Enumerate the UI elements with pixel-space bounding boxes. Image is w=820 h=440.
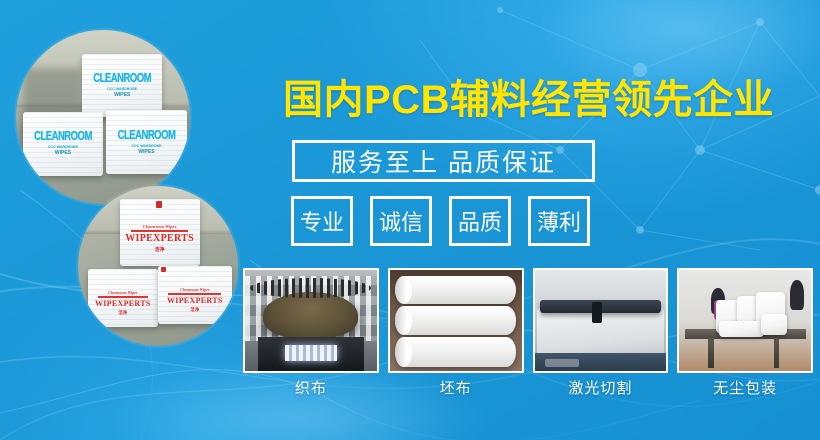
- pack-sub-label-1: CCC WARDROBE: [131, 144, 161, 148]
- bench-leg: [708, 338, 713, 368]
- keyword-label: 诚信: [379, 205, 423, 237]
- pack-logo-label: 洁净: [190, 307, 199, 313]
- slogan-text: 服务至上 品质保证: [331, 143, 556, 179]
- worker-figure: [790, 280, 804, 310]
- keyword-label: 品质: [458, 205, 502, 237]
- bench-leg: [774, 338, 779, 368]
- keyword-label: 薄利: [537, 205, 581, 237]
- pack-red-seal: [156, 201, 162, 207]
- pack-texture: [88, 269, 158, 327]
- pack-brand-label: CLEANROOM: [118, 128, 176, 143]
- fabric-roll: [395, 276, 516, 304]
- process-photo-greige-fabric: [388, 268, 524, 373]
- pack-logo-label: 洁净: [155, 246, 165, 253]
- promotional-banner: CLEANROOM CCC WARDROBE WIPES CLEANROOM C…: [0, 0, 820, 440]
- fabric-output: [285, 345, 338, 361]
- process-caption-laser-cut: 激光切割: [533, 377, 669, 398]
- process-photo-weaving: [243, 268, 379, 373]
- pack-top-label: Cleanroom Wiper: [143, 224, 177, 229]
- wipexperts-pack: Cleanroom Wiper WIPEXPERTS 洁净: [88, 269, 158, 327]
- pack-brand-label: CLEANROOM: [93, 71, 151, 86]
- cleanroom-wipes-pack: CLEANROOM CCC WARDROBE WIPES: [23, 112, 103, 176]
- pack-sub-label-2: WIPES: [138, 149, 154, 155]
- process-photo-laser-cutting: [533, 268, 669, 373]
- wipexperts-pack: Cleanroom Wiper WIPEXPERTS 洁净: [120, 199, 200, 266]
- keyword-badge-baoli: 薄利: [528, 196, 590, 246]
- process-photo-strip: [243, 268, 813, 373]
- page-title: 国内PCB辅料经营领先企业: [283, 78, 774, 122]
- fabric-roll: [395, 337, 516, 367]
- cleanroom-wipes-pack: CLEANROOM CCC WARDROBE WIPES: [106, 110, 186, 174]
- laser-head: [592, 302, 601, 322]
- process-photo-cleanroom-packaging: [677, 268, 813, 373]
- pack-logo-label: 洁净: [118, 310, 127, 316]
- pack-brand-label: WIPEXPERTS: [167, 296, 223, 305]
- pack-sub-label-2: WIPES: [55, 150, 71, 156]
- knitting-drum: [263, 292, 358, 338]
- product-circle-cleanroom-wipes: CLEANROOM CCC WARDROBE WIPES CLEANROOM C…: [16, 30, 190, 204]
- pack-sub-label-2: WIPES: [114, 92, 130, 98]
- fabric-roll: [395, 306, 516, 334]
- keyword-badge-zhuanye: 专业: [291, 196, 353, 246]
- pack-brand-label: WIPEXPERTS: [95, 299, 151, 308]
- keyword-badge-chengxin: 诚信: [370, 196, 432, 246]
- control-panel: [545, 359, 579, 367]
- slogan-box: 服务至上 品质保证: [292, 140, 595, 182]
- cleanroom-wipes-pack: CLEANROOM CCC WARDROBE WIPES: [82, 54, 162, 117]
- pack-top-label: Cleanroom Wiper: [180, 287, 209, 292]
- wipe-stack: [761, 314, 787, 334]
- process-caption-packaging: 无尘包装: [677, 377, 813, 398]
- process-caption-weaving: 织布: [243, 377, 379, 398]
- wipexperts-pack: Cleanroom Wiper WIPEXPERTS 洁净: [158, 266, 232, 324]
- pack-texture: [158, 266, 232, 324]
- pack-brand-label: CLEANROOM: [34, 130, 92, 145]
- pack-top-label: Cleanroom Wiper: [108, 290, 137, 295]
- pack-sub-label-1: CCC WARDROBE: [48, 145, 78, 149]
- pack-red-seal: [161, 267, 166, 272]
- pack-brand-label: WIPEXPERTS: [125, 233, 194, 244]
- keyword-badge-pinzhi: 品质: [449, 196, 511, 246]
- pack-texture: [23, 112, 103, 176]
- keyword-label: 专业: [300, 205, 344, 237]
- pack-sub-label-1: CCC WARDROBE: [107, 87, 137, 91]
- product-circle-wipexperts: Cleanroom Wiper WIPEXPERTS 洁净 Cleanroom …: [78, 186, 238, 346]
- process-caption-list: 织布 坯布 激光切割 无尘包装: [243, 377, 813, 398]
- process-caption-greige: 坯布: [388, 377, 524, 398]
- keyword-badge-list: 专业 诚信 品质 薄利: [291, 196, 590, 246]
- wipe-stack: [719, 321, 764, 337]
